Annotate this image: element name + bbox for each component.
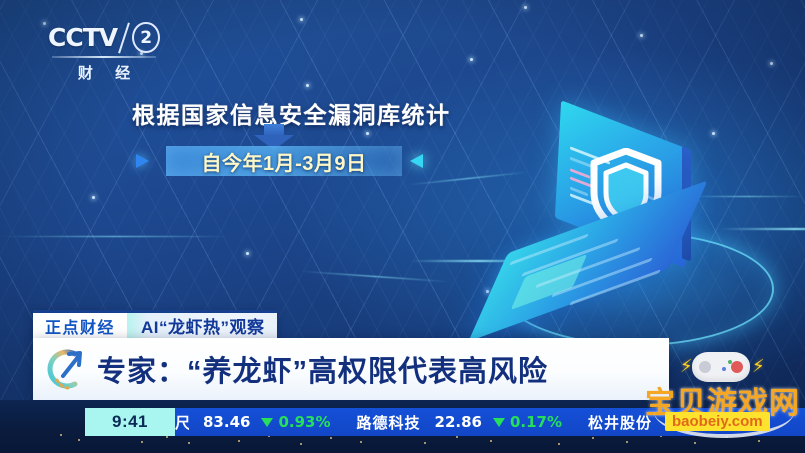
date-range-text: 自今年1月-3月9日 — [166, 146, 402, 176]
stock-price: 39.39 — [666, 413, 713, 431]
cctv-finance-arrow-logo — [33, 338, 95, 400]
ticker-item[interactable]: 松井股份 39.39 — [588, 412, 724, 433]
ticker-item[interactable]: 尺 83.46 0.93% — [175, 412, 331, 433]
caret-down-icon — [493, 418, 505, 427]
channel-number: 2 — [132, 22, 160, 53]
stock-name: 松井股份 — [588, 412, 652, 433]
logo-slash-icon — [119, 23, 130, 53]
channel-logo: CCTV 2 财 经 — [48, 22, 160, 83]
stock-name: 路德科技 — [357, 412, 421, 433]
lower-third-tabs: 正点财经 AI“龙虾热”观察 — [33, 310, 277, 338]
date-range-banner: 自今年1月-3月9日 — [128, 146, 426, 176]
tab-program[interactable]: 正点财经 — [33, 310, 127, 338]
stock-ticker[interactable]: 尺 83.46 0.93% 路德科技 22.86 0.17% 松井股份 39.3… — [85, 408, 805, 436]
triangle-left-icon — [410, 154, 423, 168]
broadcast-screen: CCTV 2 财 经 根据国家信息安全漏洞库统计 自今年1月-3月9日 — [0, 0, 805, 453]
caret-down-icon — [261, 418, 273, 427]
lower-third-title: 专家：“养龙虾”高权限代表高风险 — [95, 348, 548, 390]
tab-segment[interactable]: AI“龙虾热”观察 — [127, 310, 277, 338]
lower-third-headline-bar: 专家：“养龙虾”高权限代表高风险 — [33, 338, 669, 400]
key-visual-headline: 根据国家信息安全漏洞库统计 — [132, 96, 451, 130]
ticker-item[interactable]: 路德科技 22.86 0.17% — [357, 412, 563, 433]
stock-price: 83.46 — [203, 413, 250, 431]
channel-subtitle: 财 经 — [48, 62, 160, 83]
stock-name: 尺 — [175, 412, 189, 433]
ticker-items: 尺 83.46 0.93% 路德科技 22.86 0.17% 松井股份 39.3… — [175, 412, 750, 433]
clock: 9:41 — [85, 408, 175, 436]
logo-underline — [52, 56, 156, 58]
stock-price: 22.86 — [435, 413, 482, 431]
stock-change: 0.93% — [261, 413, 330, 431]
stock-change: 0.17% — [493, 413, 562, 431]
triangle-right-icon — [136, 154, 149, 168]
laptop-icon — [470, 120, 805, 335]
channel-name: CCTV — [48, 23, 117, 52]
light-beam — [720, 228, 805, 230]
